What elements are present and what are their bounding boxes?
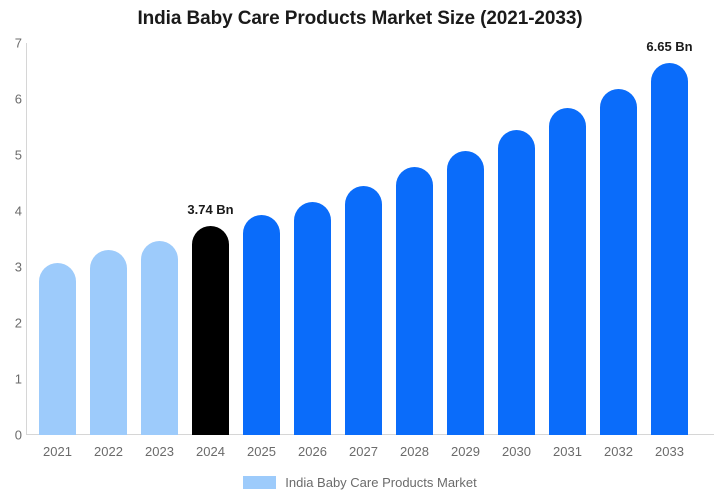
chart-legend: India Baby Care Products Market: [0, 475, 720, 490]
x-axis-tick-2022: 2022: [90, 444, 127, 459]
bar-group: 3.74 Bn6.65 Bn: [26, 43, 714, 435]
bar-rect-2024[interactable]: [192, 226, 229, 435]
bar-2024[interactable]: 3.74 Bn: [192, 43, 229, 435]
x-axis-tick-2026: 2026: [294, 444, 331, 459]
bar-rect-2027[interactable]: [345, 186, 382, 435]
bar-rect-2031[interactable]: [549, 108, 586, 435]
bar-rect-2029[interactable]: [447, 151, 484, 435]
x-axis-tick-2033: 2033: [651, 444, 688, 459]
y-axis-tick-5: 5: [15, 148, 22, 163]
bar-rect-2030[interactable]: [498, 130, 535, 435]
bar-value-label-2033: 6.65 Bn: [646, 39, 692, 54]
bar-rect-2021[interactable]: [39, 263, 76, 435]
bar-2023[interactable]: [141, 43, 178, 435]
y-axis-tick-4: 4: [15, 204, 22, 219]
x-axis-tick-2023: 2023: [141, 444, 178, 459]
y-axis-tick-0: 0: [15, 428, 22, 443]
bar-2022[interactable]: [90, 43, 127, 435]
legend-swatch-icon: [243, 476, 276, 489]
y-axis-tick-1: 1: [15, 372, 22, 387]
bar-2026[interactable]: [294, 43, 331, 435]
bar-value-label-2024: 3.74 Bn: [187, 202, 233, 217]
bar-2027[interactable]: [345, 43, 382, 435]
bar-rect-2022[interactable]: [90, 250, 127, 435]
x-axis-tick-2024: 2024: [192, 444, 229, 459]
x-axis-tick-2030: 2030: [498, 444, 535, 459]
legend-label: India Baby Care Products Market: [285, 475, 476, 490]
plot-area: 01234567 3.74 Bn6.65 Bn: [26, 43, 714, 435]
chart-container: India Baby Care Products Market Size (20…: [0, 0, 720, 500]
bar-2031[interactable]: [549, 43, 586, 435]
bar-2030[interactable]: [498, 43, 535, 435]
y-axis-tick-6: 6: [15, 92, 22, 107]
bar-2025[interactable]: [243, 43, 280, 435]
y-axis-tick-2: 2: [15, 316, 22, 331]
x-axis-tick-2025: 2025: [243, 444, 280, 459]
y-axis-tick-7: 7: [15, 36, 22, 51]
x-axis-tick-2027: 2027: [345, 444, 382, 459]
bar-2029[interactable]: [447, 43, 484, 435]
bar-2028[interactable]: [396, 43, 433, 435]
x-axis-tick-2028: 2028: [396, 444, 433, 459]
bar-rect-2023[interactable]: [141, 241, 178, 435]
y-axis-tick-3: 3: [15, 260, 22, 275]
bar-rect-2028[interactable]: [396, 167, 433, 435]
bar-rect-2026[interactable]: [294, 202, 331, 435]
bar-rect-2033[interactable]: [651, 63, 688, 435]
bar-rect-2025[interactable]: [243, 215, 280, 435]
x-axis-tick-2032: 2032: [600, 444, 637, 459]
bar-2033[interactable]: 6.65 Bn: [651, 43, 688, 435]
chart-title: India Baby Care Products Market Size (20…: [0, 8, 720, 30]
x-axis-tick-2029: 2029: [447, 444, 484, 459]
bar-rect-2032[interactable]: [600, 89, 637, 435]
x-axis-tick-labels: 2021202220232024202520262027202820292030…: [26, 444, 714, 464]
bar-2021[interactable]: [39, 43, 76, 435]
x-axis-tick-2021: 2021: [39, 444, 76, 459]
bar-2032[interactable]: [600, 43, 637, 435]
x-axis-tick-2031: 2031: [549, 444, 586, 459]
